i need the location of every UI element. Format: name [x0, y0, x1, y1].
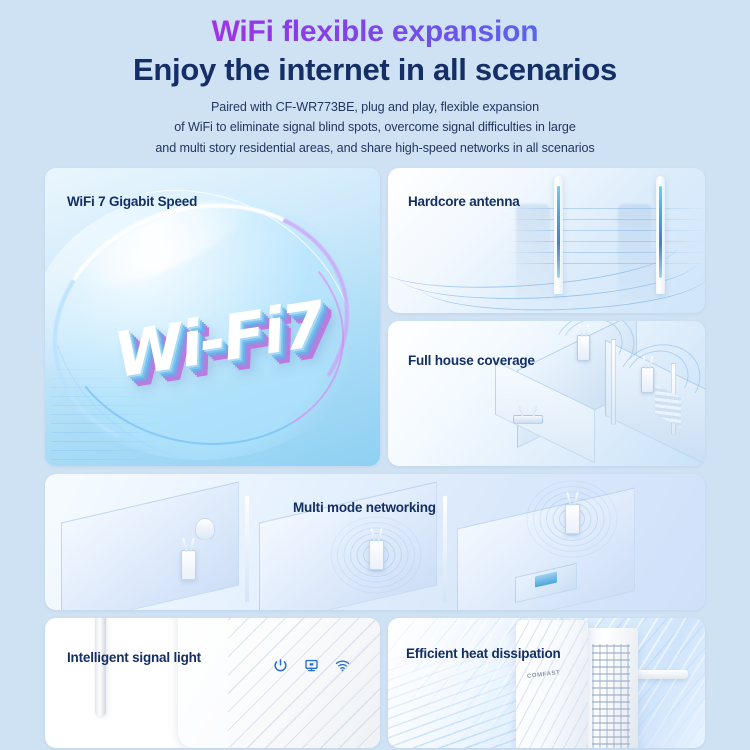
- antenna-rod-2: [656, 176, 665, 294]
- room-1: [61, 481, 239, 610]
- room-divider-1: [245, 496, 249, 603]
- page-header: WiFi flexible expansion Enjoy the intern…: [0, 0, 750, 158]
- feature-card-signal-light[interactable]: Intelligent signal light: [45, 618, 380, 748]
- card-label-house: Full house coverage: [408, 353, 535, 368]
- description-line-3: and multi story residential areas, and s…: [0, 138, 750, 158]
- extender-room-1: [181, 550, 196, 580]
- card-label-multimode: Multi mode networking: [293, 500, 436, 515]
- router-front-panel: COMFAST: [516, 620, 588, 748]
- feature-card-wifi7[interactable]: Wi-Fi7 WiFi 7 Gigabit Speed: [45, 168, 380, 466]
- feature-card-house[interactable]: Full house coverage: [388, 321, 705, 466]
- led-indicator-group: [273, 658, 350, 673]
- ventilation-holes: [592, 644, 630, 748]
- feature-card-multimode[interactable]: Multi mode networking: [45, 474, 705, 610]
- bathroom-fixture: [195, 518, 215, 540]
- wifi-extender-2: [641, 367, 654, 393]
- card-label-signal-light: Intelligent signal light: [67, 650, 201, 665]
- isometric-house-illustration: [465, 323, 705, 465]
- card-label-heat: Efficient heat dissipation: [406, 646, 561, 661]
- router-device: [513, 415, 543, 424]
- page-title: Enjoy the internet in all scenarios: [0, 51, 750, 89]
- feature-card-heat[interactable]: COMFAST Efficient heat dissipation: [388, 618, 705, 748]
- lan-led-icon: [304, 658, 319, 673]
- device-housing: [178, 618, 380, 748]
- page-description: Paired with CF-WR773BE, plug and play, f…: [0, 97, 750, 158]
- gradient-headline: WiFi flexible expansion: [0, 14, 750, 50]
- router-texture-stripes: [516, 620, 588, 748]
- feature-card-antenna[interactable]: Hardcore antenna: [388, 168, 705, 313]
- antenna-rod-1: [554, 176, 563, 294]
- device-texture-stripes: [228, 618, 380, 748]
- description-line-1: Paired with CF-WR773BE, plug and play, f…: [0, 97, 750, 117]
- extender-room-3: [565, 504, 580, 534]
- wifi-led-icon: [335, 658, 350, 673]
- room-divider-2: [443, 496, 447, 603]
- card-label-antenna: Hardcore antenna: [408, 194, 520, 209]
- extender-room-2: [369, 540, 384, 570]
- card-label-wifi7: WiFi 7 Gigabit Speed: [67, 194, 197, 209]
- plug-arm: [630, 670, 688, 679]
- router-side-panel: [584, 628, 638, 748]
- description-line-2: of WiFi to eliminate signal blind spots,…: [0, 117, 750, 137]
- device-antenna: [95, 618, 106, 716]
- power-led-icon: [273, 658, 288, 673]
- wifi-extender-1: [577, 335, 590, 361]
- product-feature-page: WiFi flexible expansion Enjoy the intern…: [0, 0, 750, 750]
- feature-card-grid: Wi-Fi7 WiFi 7 Gigabit Speed Hardcore ant…: [45, 168, 705, 734]
